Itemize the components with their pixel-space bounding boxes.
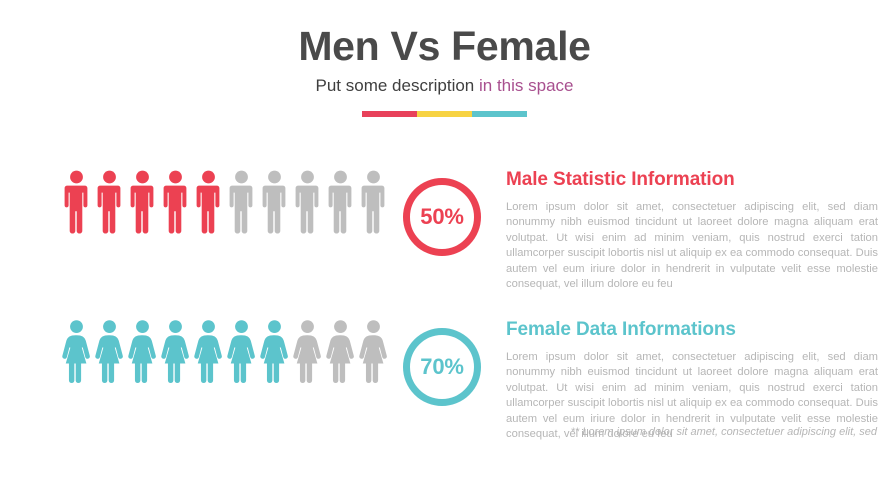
male-figure-icon-empty [258,168,291,234]
male-figure-icon-empty [324,168,357,234]
female-figure-icon-filled [126,318,159,384]
male-statistic-row: 50% Male Statistic Information Lorem ips… [0,168,889,288]
male-percent-value: 50% [420,206,463,228]
male-text-block: Male Statistic Information Lorem ipsum d… [506,170,878,293]
divider-segment-red [362,111,417,117]
subtitle-accent-text: in this space [479,76,574,95]
male-figure-icon-empty [291,168,324,234]
male-figure-icon-empty [357,168,390,234]
female-figure-icon-filled [225,318,258,384]
male-pictogram-group [60,168,390,234]
female-figure-icon-empty [291,318,324,384]
male-figure-icon-empty [225,168,258,234]
female-percent-value: 70% [420,356,463,378]
female-section-heading: Female Data Informations [506,320,878,341]
female-percent-gauge: 70% [403,328,481,406]
footnote: ** Lorem ipsum dolor sit amet, consectet… [257,426,877,438]
header: Men Vs Female Put some description in th… [0,24,889,117]
female-figure-icon-filled [93,318,126,384]
female-pictogram-group [60,318,390,384]
page-subtitle: Put some description in this space [0,76,889,96]
male-section-heading: Male Statistic Information [506,170,878,191]
divider-segment-yellow [417,111,472,117]
female-text-block: Female Data Informations Lorem ipsum dol… [506,320,878,443]
male-figure-icon-filled [126,168,159,234]
male-figure-icon-filled [159,168,192,234]
subtitle-plain-text: Put some description [316,76,479,95]
page-title: Men Vs Female [0,24,889,68]
male-percent-gauge: 50% [403,178,481,256]
male-section-body: Lorem ipsum dolor sit amet, consectetuer… [506,200,878,293]
female-figure-icon-filled [192,318,225,384]
male-figure-icon-filled [192,168,225,234]
female-figure-icon-filled [159,318,192,384]
female-figure-icon-filled [258,318,291,384]
header-divider [362,111,528,117]
female-statistic-row: 70% Female Data Informations Lorem ipsum… [0,318,889,438]
divider-segment-teal [472,111,527,117]
male-figure-icon-filled [60,168,93,234]
female-figure-icon-filled [60,318,93,384]
female-figure-icon-empty [357,318,390,384]
male-figure-icon-filled [93,168,126,234]
female-figure-icon-empty [324,318,357,384]
